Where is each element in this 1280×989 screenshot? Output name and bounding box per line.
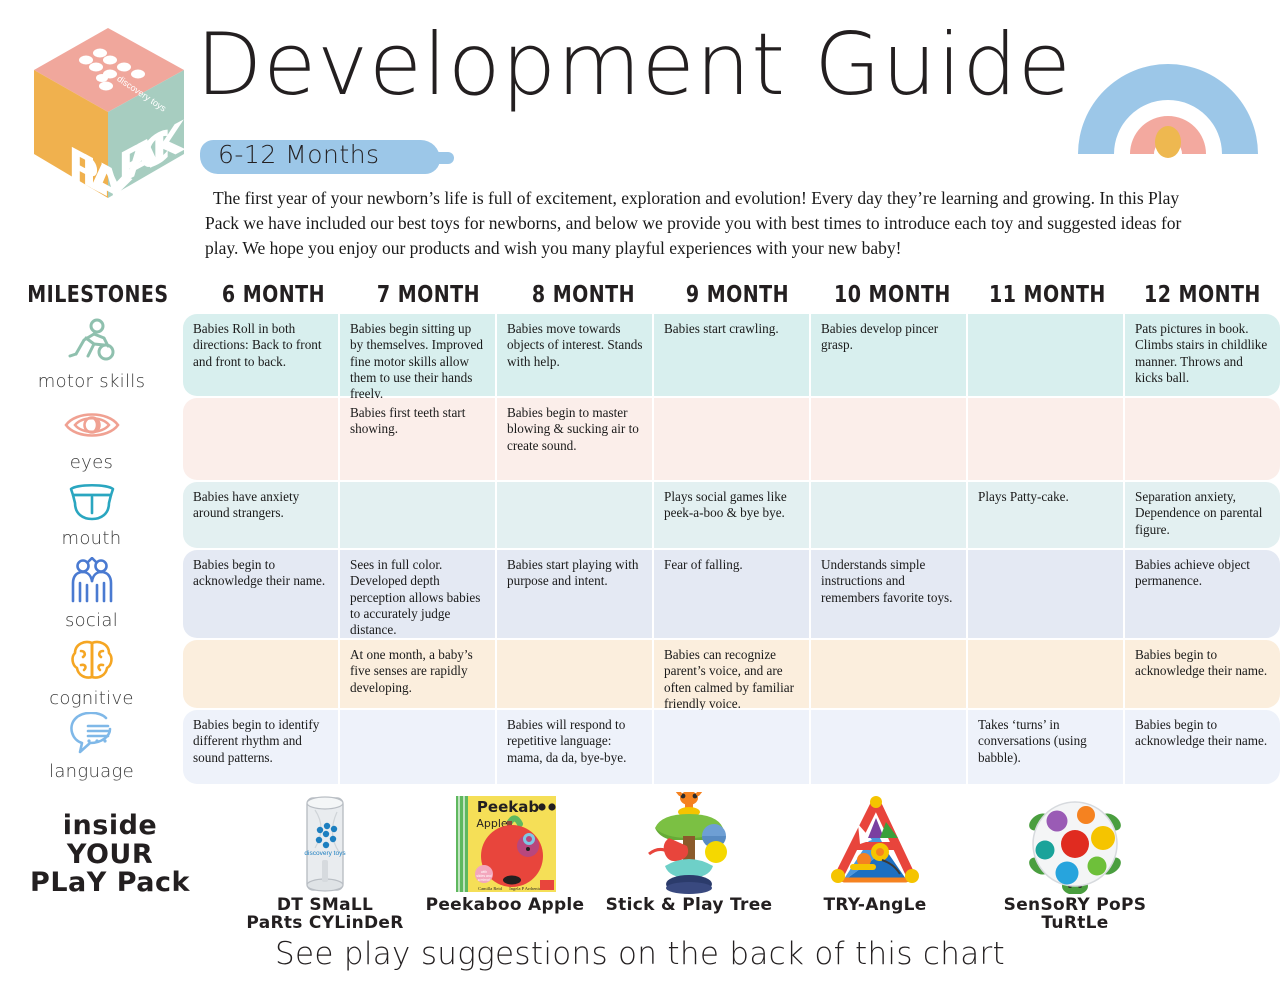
- cylinder-toy-icon: discovery toys: [240, 792, 410, 894]
- brain-icon: [69, 639, 115, 686]
- table-header-row: MILESTONES 6 MONTH 7 MONTH 8 MONTH 9 MON…: [0, 272, 1280, 310]
- product-stick-and-play-tree: Stick & Play Tree: [604, 792, 774, 915]
- cell-social-8: Babies start playing with purpose and in…: [497, 550, 652, 638]
- cell-cognitive-11: [968, 640, 1123, 708]
- svg-text:discovery toys: discovery toys: [304, 850, 346, 857]
- cell-language-11: Takes ‘turns’ in conversations (using ba…: [968, 710, 1123, 784]
- column-header-7-month: 7 MONTH: [357, 282, 499, 310]
- cell-motor-11: [968, 314, 1123, 396]
- svg-text:a mirror!: a mirror!: [478, 878, 491, 882]
- triangle-toy-icon: [790, 792, 960, 894]
- cell-social-7: Sees in full color. Developed depth perc…: [340, 550, 495, 638]
- intro-paragraph: The first year of your newborn’s life is…: [205, 186, 1185, 261]
- cell-mouth-11: Plays Patty-cake.: [968, 482, 1123, 548]
- column-header-9-month: 9 MONTH: [667, 282, 809, 310]
- cell-motor-12: Pats pictures in book. Climbs stairs in …: [1125, 314, 1280, 396]
- products-section: inside YOUR PLaY Pack: [0, 790, 1280, 940]
- row-label-cognitive: cognitive: [0, 640, 183, 708]
- row-label-eyes: eyes: [0, 398, 183, 480]
- cell-eyes-6: [183, 398, 338, 480]
- cell-cognitive-8: [497, 640, 652, 708]
- cell-cognitive-9: Babies can recognize parent’s voice, and…: [654, 640, 809, 708]
- cell-motor-9: Babies start crawling.: [654, 314, 809, 396]
- play-pack-logo: discovery toys PLAY PACK: [22, 26, 194, 202]
- product-name-line-1: Peekaboo Apple: [420, 897, 590, 915]
- cell-language-10: [811, 710, 966, 784]
- product-try-angle: TRY-AngLe: [790, 792, 960, 915]
- row-label-motor-skills: motor skills: [0, 314, 183, 396]
- row-label-text: cognitive: [49, 688, 134, 709]
- turtle-pop-toy-icon: [990, 792, 1160, 894]
- cell-eyes-12: [1125, 398, 1280, 480]
- table-row-cognitive: cognitive At one month, a baby’s five se…: [0, 640, 1280, 708]
- cell-motor-6: Babies Roll in both directions: Back to …: [183, 314, 338, 396]
- cell-eyes-10: [811, 398, 966, 480]
- cell-motor-10: Babies develop pincer grasp.: [811, 314, 966, 396]
- eye-icon: [62, 405, 122, 450]
- cell-mouth-10: [811, 482, 966, 548]
- cell-language-12: Babies begin to acknowledge their name.: [1125, 710, 1280, 784]
- page-title: Development Guide: [196, 22, 1072, 108]
- row-label-social: social: [0, 550, 183, 638]
- row-label-mouth: mouth: [0, 482, 183, 548]
- cell-social-10: Understands simple instructions and reme…: [811, 550, 966, 638]
- age-range-label: 6-12 Months: [218, 140, 380, 169]
- mouth-tongue-icon: [67, 481, 117, 526]
- cell-cognitive-6: [183, 640, 338, 708]
- cell-mouth-9: Plays social games like peek-a-boo & bye…: [654, 482, 809, 548]
- row-label-language: language: [0, 710, 183, 784]
- inside-title-line-1: inside: [24, 812, 196, 841]
- product-sensory-pops-turtle: SenSoRY PoPS TuRtLe: [990, 792, 1160, 933]
- rainbow-icon: [1072, 20, 1264, 160]
- cell-mouth-8: [497, 482, 652, 548]
- product-peekaboo-apple: Peekab Apple with slides and a mirror! C…: [420, 792, 590, 915]
- product-name-line-1: Stick & Play Tree: [604, 897, 774, 915]
- cell-mouth-12: Separation anxiety, Dependence on parent…: [1125, 482, 1280, 548]
- milestones-table: MILESTONES 6 MONTH 7 MONTH 8 MONTH 9 MON…: [0, 272, 1280, 786]
- table-row-eyes: eyes Babies first teeth start showing. B…: [0, 398, 1280, 480]
- footer-note: See play suggestions on the back of this…: [0, 936, 1280, 972]
- cell-cognitive-12: Babies begin to acknowledge their name.: [1125, 640, 1280, 708]
- product-name-line-1: TRY-AngLe: [790, 897, 960, 915]
- product-name-line-2: TuRtLe: [990, 915, 1160, 933]
- cell-mouth-6: Babies have anxiety around strangers.: [183, 482, 338, 548]
- column-header-12-month: 12 MONTH: [1131, 282, 1273, 310]
- column-header-8-month: 8 MONTH: [512, 282, 654, 310]
- cell-language-9: [654, 710, 809, 784]
- cell-eyes-9: [654, 398, 809, 480]
- column-header-6-month: 6 MONTH: [202, 282, 344, 310]
- cell-mouth-7: [340, 482, 495, 548]
- cell-eyes-8: Babies begin to master blowing & sucking…: [497, 398, 652, 480]
- speech-bubble-icon: [66, 712, 118, 759]
- cell-language-8: Babies will respond to repetitive langua…: [497, 710, 652, 784]
- cell-language-7: [340, 710, 495, 784]
- header: discovery toys PLAY PACK Development Gui…: [0, 0, 1280, 185]
- development-guide-page: discovery toys PLAY PACK Development Gui…: [0, 0, 1280, 989]
- row-label-text: mouth: [62, 528, 122, 549]
- column-header-milestones: MILESTONES: [8, 282, 188, 310]
- product-name-line-2: PaRts CYLinDeR: [240, 915, 410, 933]
- column-header-11-month: 11 MONTH: [976, 282, 1118, 310]
- inside-title-line-3: PLaY Pack: [24, 869, 196, 898]
- cell-social-9: Fear of falling.: [654, 550, 809, 638]
- table-row-language: language Babies begin to identify differ…: [0, 710, 1280, 784]
- svg-text:Camilla Reid: Camilla Reid: [478, 886, 503, 891]
- cell-language-6: Babies begin to identify different rhyth…: [183, 710, 338, 784]
- cell-motor-8: Babies move towards objects of interest.…: [497, 314, 652, 396]
- cell-motor-7: Babies begin sitting up by themselves. I…: [340, 314, 495, 396]
- cell-eyes-11: [968, 398, 1123, 480]
- row-label-text: language: [49, 761, 134, 782]
- age-range-badge: 6-12 Months: [200, 136, 440, 178]
- svg-text:Ingela P Arrhenius: Ingela P Arrhenius: [509, 886, 543, 891]
- cell-eyes-7: Babies first teeth start showing.: [340, 398, 495, 480]
- inside-your-play-pack-title: inside YOUR PLaY Pack: [24, 812, 196, 898]
- column-header-10-month: 10 MONTH: [822, 282, 964, 310]
- product-dt-small-parts-cylinder: discovery toys DT SMaLL PaRts CYLinDeR: [240, 792, 410, 933]
- cell-social-11: [968, 550, 1123, 638]
- two-people-icon: [66, 557, 118, 608]
- row-label-text: motor skills: [38, 371, 146, 392]
- inside-title-line-2: YOUR: [24, 841, 196, 870]
- row-label-text: social: [65, 610, 118, 631]
- cell-cognitive-10: [811, 640, 966, 708]
- tree-toy-icon: [604, 792, 774, 894]
- board-book-icon: Peekab Apple with slides and a mirror! C…: [420, 792, 590, 894]
- running-child-icon: [64, 318, 120, 369]
- cell-social-6: Babies begin to acknowledge their name.: [183, 550, 338, 638]
- table-row-mouth: mouth Babies have anxiety around strange…: [0, 482, 1280, 548]
- cell-cognitive-7: At one month, a baby’s five senses are r…: [340, 640, 495, 708]
- table-row-motor-skills: motor skills Babies Roll in both directi…: [0, 314, 1280, 396]
- table-row-social: social Babies begin to acknowledge their…: [0, 550, 1280, 638]
- row-label-text: eyes: [70, 452, 113, 473]
- cell-social-12: Babies achieve object permanence.: [1125, 550, 1280, 638]
- svg-text:Peekab: Peekab: [477, 798, 539, 816]
